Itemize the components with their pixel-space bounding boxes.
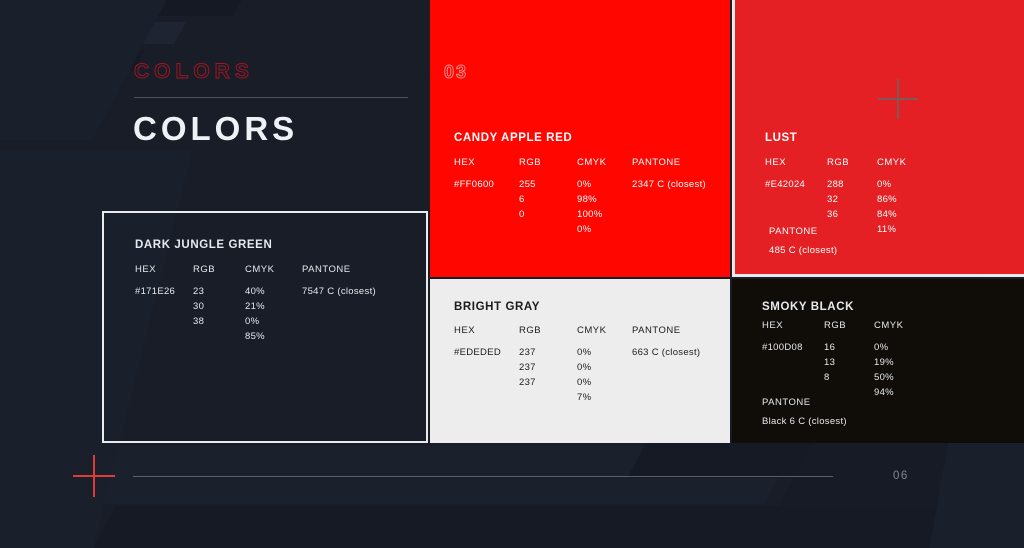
decor-stripe-1 [0,0,247,16]
swatch-panel-candy-apple-red[interactable]: 03 CANDY APPLE RED HEX #FF0600 RGB 255 6… [430,0,730,277]
swatch-specs-dark-jungle-green: HEX #171E26 RGB 23 30 38 CMYK 40% 21% 0%… [135,264,412,344]
spec-label-pantone: PANTONE [302,264,412,275]
spec-value-pantone: 663 C (closest) [632,345,742,360]
spec-col-pantone: PANTONE 7547 C (closest) [302,264,412,344]
spec-value-rgb-r: 23 [193,284,245,299]
spec-value-cmyk-k: 7% [577,390,632,405]
spec-value-cmyk-c: 40% [245,284,302,299]
spec-label-cmyk: CMYK [577,325,632,336]
spec-value-rgb-b: 38 [193,314,245,329]
spec-value-cmyk-m: 0% [577,360,632,375]
decor-wedge-midright [766,440,1024,530]
spec-label-hex: HEX [454,157,519,168]
spec-value-cmyk-k: 11% [877,222,937,237]
spec-value-cmyk-k: 94% [874,385,934,400]
spec-value-cmyk-y: 50% [874,370,934,385]
swatch-specs-bright-gray: HEX #EDEDED RGB 237 237 237 CMYK 0% 0% 0… [454,325,742,405]
spec-col-cmyk: CMYK 0% 19% 50% 94% [874,320,934,400]
spec-col-cmyk: CMYK 0% 0% 0% 7% [577,325,632,405]
spec-label-hex: HEX [135,264,193,275]
swatch-pantone-smoky-black: PANTONE Black 6 C (closest) [762,397,847,427]
footer-divider [133,476,833,477]
spec-value-hex: #E42024 [765,177,827,192]
spec-value-cmyk-y: 100% [577,207,632,222]
swatch-pantone-lust: PANTONE 485 C (closest) [769,226,837,256]
spec-value-hex: #171E26 [135,284,193,299]
swatch-title-candy-apple-red: CANDY APPLE RED [454,132,572,144]
spec-col-cmyk: CMYK 40% 21% 0% 85% [245,264,302,344]
spec-value-pantone: 485 C (closest) [769,245,837,256]
spec-value-hex: #EDEDED [454,345,519,360]
spec-value-cmyk-c: 0% [577,177,632,192]
spec-col-rgb: RGB 16 13 8 [824,320,874,400]
spec-label-rgb: RGB [824,320,874,331]
spec-value-rgb-r: 288 [827,177,877,192]
spec-value-hex: #FF0600 [454,177,519,192]
decor-stripe-2 [0,22,186,44]
spec-value-rgb-g: 13 [824,355,874,370]
spec-value-cmyk-m: 98% [577,192,632,207]
spec-col-rgb: RGB 288 32 36 [827,157,877,237]
spec-label-hex: HEX [765,157,827,168]
spec-value-cmyk-m: 19% [874,355,934,370]
slide-canvas: COLORS COLORS 03 CANDY APPLE RED HEX #FF… [0,0,1024,548]
crosshair-vertical [897,79,899,119]
spec-value-pantone: 7547 C (closest) [302,284,412,299]
spec-label-cmyk: CMYK [877,157,937,168]
spec-label-hex: HEX [454,325,519,336]
spec-value-rgb-g: 237 [519,360,577,375]
spec-col-cmyk: CMYK 0% 86% 84% 11% [877,157,937,237]
page-number: 06 [893,470,909,482]
spec-label-rgb: RGB [519,157,577,168]
crosshair-vertical [93,455,95,497]
spec-col-hex: HEX #EDEDED [454,325,519,405]
spec-col-rgb: RGB 237 237 237 [519,325,577,405]
spec-value-rgb-g: 30 [193,299,245,314]
spec-col-rgb: RGB 255 6 0 [519,157,577,237]
crosshair-icon [73,455,115,497]
spec-value-rgb-g: 6 [519,192,577,207]
decor-stripe-5 [0,100,44,116]
spec-label-pantone: PANTONE [762,397,847,408]
spec-value-rgb-b: 8 [824,370,874,385]
spec-label-cmyk: CMYK [245,264,302,275]
spec-label-hex: HEX [762,320,824,331]
header-divider [134,97,408,98]
spec-value-rgb-b: 237 [519,375,577,390]
spec-value-cmyk-m: 21% [245,299,302,314]
spec-col-hex: HEX #171E26 [135,264,193,344]
swatch-specs-smoky-black: HEX #100D08 RGB 16 13 8 CMYK 0% 19% 50% … [762,320,934,400]
spec-value-rgb-g: 32 [827,192,877,207]
spec-col-pantone: PANTONE 2347 C (closest) [632,157,742,237]
swatch-panel-bright-gray[interactable]: BRIGHT GRAY HEX #EDEDED RGB 237 237 237 … [430,279,730,443]
spec-value-rgb-r: 237 [519,345,577,360]
spec-col-hex: HEX #E42024 [765,157,827,237]
section-number: 03 [444,62,468,83]
spec-label-rgb: RGB [519,325,577,336]
spec-value-cmyk-y: 0% [245,314,302,329]
decor-wedge-lowerband [84,506,1024,548]
decor-stripe-3 [0,50,145,70]
spec-col-rgb: RGB 23 30 38 [193,264,245,344]
spec-label-cmyk: CMYK [874,320,934,331]
swatch-title-smoky-black: SMOKY BLACK [762,301,854,313]
spec-label-rgb: RGB [193,264,245,275]
spec-value-cmyk-k: 85% [245,329,302,344]
spec-value-cmyk-c: 0% [874,340,934,355]
spec-col-cmyk: CMYK 0% 98% 100% 0% [577,157,632,237]
spec-value-hex: #100D08 [762,340,824,355]
swatch-panel-smoky-black[interactable]: SMOKY BLACK HEX #100D08 RGB 16 13 8 CMYK… [732,279,1024,443]
decor-wedge-bottomleft [0,446,795,504]
spec-value-pantone: Black 6 C (closest) [762,416,847,427]
spec-col-pantone: PANTONE 663 C (closest) [632,325,742,405]
spec-label-pantone: PANTONE [632,325,742,336]
spec-value-cmyk-m: 86% [877,192,937,207]
spec-value-rgb-r: 255 [519,177,577,192]
spec-value-cmyk-y: 0% [577,375,632,390]
swatch-title-bright-gray: BRIGHT GRAY [454,301,540,313]
spec-col-hex: HEX #FF0600 [454,157,519,237]
spec-value-cmyk-k: 0% [577,222,632,237]
spec-label-pantone: PANTONE [769,226,837,237]
spec-value-cmyk-y: 84% [877,207,937,222]
spec-value-cmyk-c: 0% [577,345,632,360]
decor-stripe-4 [0,76,95,94]
spec-value-pantone: 2347 C (closest) [632,177,742,192]
spec-value-cmyk-c: 0% [877,177,937,192]
spec-label-rgb: RGB [827,157,877,168]
swatch-specs-lust: HEX #E42024 RGB 288 32 36 CMYK 0% 86% 84… [765,157,937,237]
crosshair-icon [878,79,918,119]
spec-label-cmyk: CMYK [577,157,632,168]
spec-value-rgb-r: 16 [824,340,874,355]
spec-value-rgb-b: 36 [827,207,877,222]
spec-label-pantone: PANTONE [632,157,742,168]
swatch-panel-lust[interactable]: LUST HEX #E42024 RGB 288 32 36 CMYK 0% 8… [732,0,1024,277]
page-title: COLORS [133,110,298,148]
swatch-panel-dark-jungle-green[interactable]: DARK JUNGLE GREEN HEX #171E26 RGB 23 30 … [102,211,428,443]
swatch-title-dark-jungle-green: DARK JUNGLE GREEN [135,239,272,251]
page-eyebrow: COLORS [134,60,254,84]
swatch-title-lust: LUST [765,132,797,144]
spec-value-rgb-b: 0 [519,207,577,222]
swatch-specs-candy-apple-red: HEX #FF0600 RGB 255 6 0 CMYK 0% 98% 100%… [454,157,742,237]
spec-col-hex: HEX #100D08 [762,320,824,400]
